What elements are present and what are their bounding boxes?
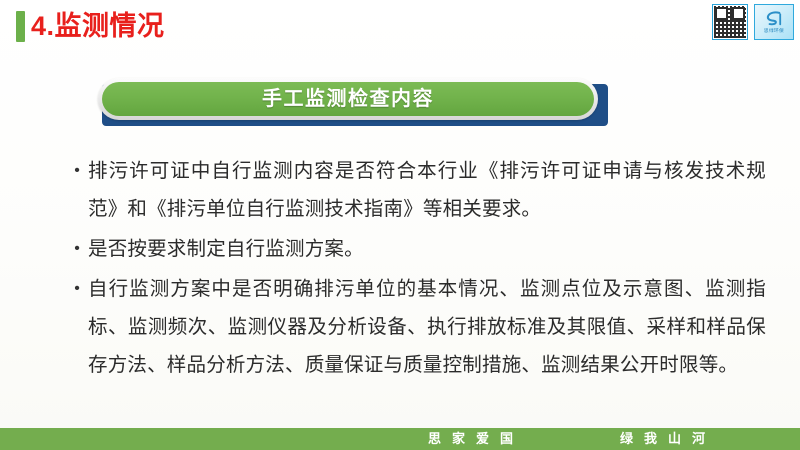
list-item-text: 排污许可证中自行监测内容是否符合本行业《排污许可证申请与核发技术规范》和《排污单… bbox=[88, 152, 766, 228]
bullet-marker-icon: • bbox=[66, 270, 88, 308]
footer-slogan-left: 思家爱国 bbox=[428, 428, 524, 450]
slide-footer: 思家爱国 绿我山河 bbox=[0, 428, 800, 450]
list-item: • 自行监测方案中是否明确排污单位的基本情况、监测点位及示意图、监测指标、监测频… bbox=[66, 270, 766, 384]
list-item: • 是否按要求制定自行监测方案。 bbox=[66, 230, 766, 268]
slide-header: 4.监测情况 思绿环保 bbox=[0, 0, 800, 52]
title-accent-bar bbox=[16, 11, 25, 42]
company-logo[interactable]: 思绿环保 bbox=[754, 4, 794, 40]
qr-code-icon[interactable] bbox=[712, 4, 748, 40]
footer-slogan-right: 绿我山河 bbox=[620, 428, 716, 450]
list-item-text: 是否按要求制定自行监测方案。 bbox=[88, 230, 766, 268]
banner-title: 手工监测检查内容 bbox=[262, 87, 434, 111]
company-logo-icon bbox=[764, 10, 784, 28]
bullet-marker-icon: • bbox=[66, 230, 88, 268]
banner-fill: 手工监测检查内容 bbox=[102, 82, 594, 116]
list-item-text: 自行监测方案中是否明确排污单位的基本情况、监测点位及示意图、监测指标、监测频次、… bbox=[88, 270, 766, 384]
list-item: • 排污许可证中自行监测内容是否符合本行业《排污许可证申请与核发技术规范》和《排… bbox=[66, 152, 766, 228]
bullet-marker-icon: • bbox=[66, 152, 88, 190]
banner-bezel: 手工监测检查内容 bbox=[98, 78, 598, 120]
qr-code-pattern bbox=[714, 6, 746, 38]
content-bullet-list: • 排污许可证中自行监测内容是否符合本行业《排污许可证申请与核发技术规范》和《排… bbox=[66, 152, 766, 386]
company-logo-text: 思绿环保 bbox=[764, 28, 784, 35]
brand-badge-group: 思绿环保 bbox=[712, 4, 794, 40]
section-banner: 手工监测检查内容 bbox=[98, 78, 608, 126]
slide-canvas: 4.监测情况 思绿环保 手工监测检查内容 • 排污许可证中 bbox=[0, 0, 800, 450]
page-title: 4.监测情况 bbox=[31, 7, 165, 45]
